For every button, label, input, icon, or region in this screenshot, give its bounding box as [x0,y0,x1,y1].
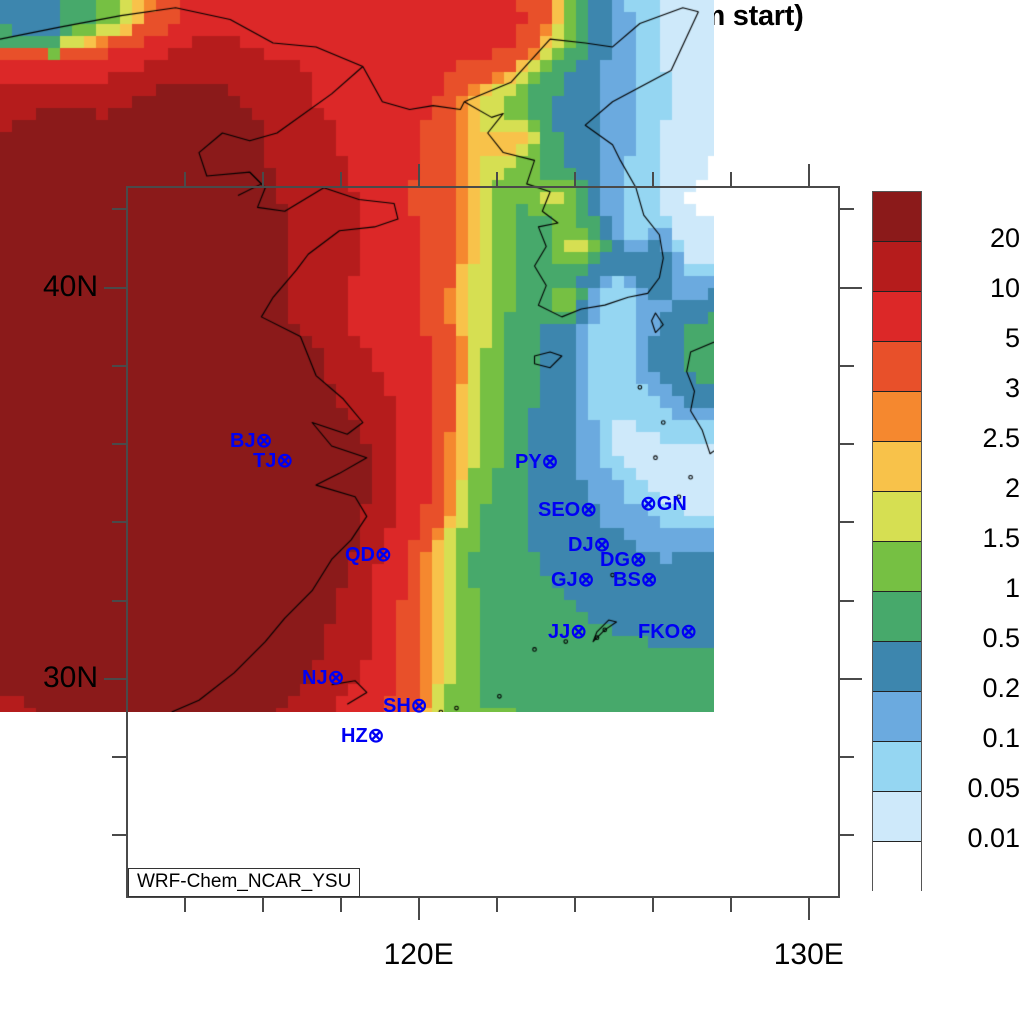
model-attribution-box: WRF-Chem_NCAR_YSU [128,868,360,897]
colorbar-label-0.5: 0.5 [930,623,1020,654]
y-tick-34 [112,521,126,523]
x-tick-top-128 [730,172,732,186]
y-tick-right-34 [840,521,854,523]
colorbar-label-2: 2 [930,473,1020,504]
city-marker-dg: DG⊗ [600,550,647,570]
y-tick-right-40 [840,287,862,289]
y-tick-right-26 [840,834,854,836]
x-tick-116 [262,898,264,912]
colorbar-label-0.2: 0.2 [930,673,1020,704]
colorbar-band-4 [873,392,921,442]
city-marker-hz: HZ⊗ [341,726,384,746]
y-tick-32 [112,600,126,602]
colorbar-label-20: 20 [930,223,1020,254]
city-marker-bj: BJ⊗ [230,431,272,451]
x-tick-top-120 [418,164,420,186]
city-marker-bs: BS⊗ [613,570,658,590]
city-marker-tj: TJ⊗ [253,451,293,471]
x-axis-label-130E: 130E [729,938,889,972]
y-tick-26 [112,834,126,836]
city-marker-gj: GJ⊗ [551,570,594,590]
colorbar-band-8 [873,592,921,642]
city-marker-jj: JJ⊗ [548,622,587,642]
colorbar-label-5: 5 [930,323,1020,354]
colorbar-band-11 [873,742,921,792]
x-tick-120 [418,898,420,920]
x-tick-top-126 [652,172,654,186]
x-tick-top-122 [496,172,498,186]
x-tick-top-116 [262,172,264,186]
colorbar-band-13 [873,842,921,892]
colorbar-label-0.05: 0.05 [930,773,1020,804]
x-tick-118 [340,898,342,912]
x-tick-124 [574,898,576,912]
x-tick-126 [652,898,654,912]
colorbar-band-0 [873,192,921,242]
colorbar-band-3 [873,342,921,392]
y-tick-right-36 [840,443,854,445]
colorbar-band-9 [873,642,921,692]
y-tick-36 [112,443,126,445]
y-tick-right-38 [840,365,854,367]
colorbar-band-2 [873,292,921,342]
x-tick-128 [730,898,732,912]
y-tick-right-32 [840,600,854,602]
x-tick-top-118 [340,172,342,186]
city-marker-seo: SEO⊗ [538,500,597,520]
x-tick-top-124 [574,172,576,186]
colorbar-label-0.1: 0.1 [930,723,1020,754]
x-tick-top-114 [184,172,186,186]
colorbar-band-12 [873,792,921,842]
y-tick-40 [104,287,126,289]
colorbar-label-1.5: 1.5 [930,523,1020,554]
y-tick-42 [112,208,126,210]
colorbar-label-10: 10 [930,273,1020,304]
y-tick-38 [112,365,126,367]
city-marker-gn: ⊗GN [640,494,687,514]
colorbar-label-2.5: 2.5 [930,423,1020,454]
colorbar-band-10 [873,692,921,742]
x-axis-label-120E: 120E [339,938,499,972]
x-tick-114 [184,898,186,912]
colorbar-label-0.01: 0.01 [930,823,1020,854]
colorbar-band-7 [873,542,921,592]
colorbar-label-3: 3 [930,373,1020,404]
y-tick-right-42 [840,208,854,210]
city-marker-py: PY⊗ [515,452,558,472]
colorbar-label-1: 1 [930,573,1020,604]
y-axis-label-40N: 40N [8,270,98,304]
y-tick-right-28 [840,756,854,758]
x-tick-top-130 [808,164,810,186]
map-plot-area [0,101,714,813]
y-tick-30 [104,678,126,680]
x-tick-130 [808,898,810,920]
y-tick-right-30 [840,678,862,680]
colorbar-band-1 [873,242,921,292]
colorbar [872,191,922,891]
x-tick-122 [496,898,498,912]
city-marker-sh: SH⊗ [383,696,428,716]
city-marker-qd: QD⊗ [345,545,392,565]
y-axis-label-30N: 30N [8,661,98,695]
so2-heatmap-canvas [0,0,714,712]
y-tick-28 [112,756,126,758]
city-marker-nj: NJ⊗ [302,668,344,688]
colorbar-band-6 [873,492,921,542]
colorbar-band-5 [873,442,921,492]
city-marker-fko: FKO⊗ [638,622,697,642]
